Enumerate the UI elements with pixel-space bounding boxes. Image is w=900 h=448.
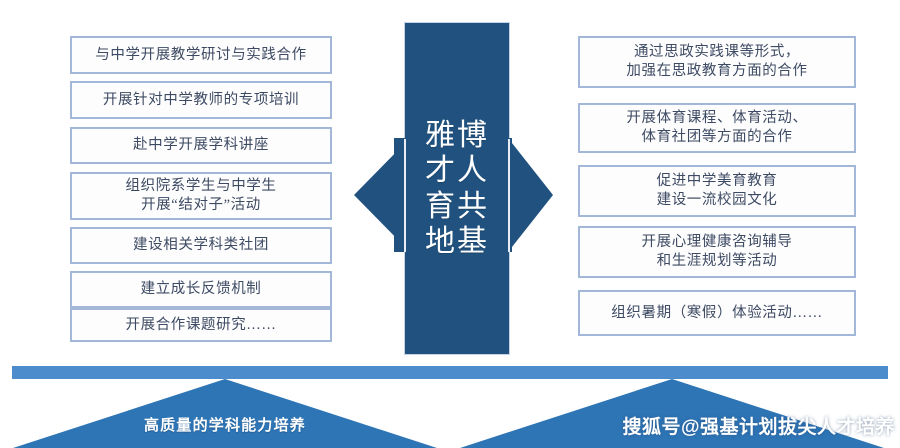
diagram-canvas: 与中学开展教学研讨与实践合作 开展针对中学教师的专项培训 赴中学开展学科讲座 组… [0, 0, 900, 448]
left-box-3: 赴中学开展学科讲座 [70, 127, 332, 164]
left-box-2: 开展针对中学教师的专项培训 [70, 81, 332, 119]
left-box-7: 开展合作课题研究…… [70, 308, 332, 342]
left-box-6: 建立成长反馈机制 [70, 271, 332, 308]
center-notch-right-line [508, 139, 510, 252]
right-box-5: 组织暑期（寒假）体验活动…… [578, 290, 856, 336]
center-vertical-bar [404, 22, 510, 355]
right-box-2: 开展体育课程、体育活动、 体育社团等方面的合作 [578, 103, 856, 153]
right-box-1: 通过思政实践课等形式， 加强在思政教育方面的合作 [578, 36, 856, 88]
right-box-3: 促进中学美育教育 建设一流校园文化 [578, 165, 856, 217]
left-box-1: 与中学开展教学研讨与实践合作 [70, 36, 332, 74]
left-box-5: 建设相关学科类社团 [70, 227, 332, 264]
arrow-left-icon [354, 138, 410, 252]
center-notch-left-line [404, 139, 406, 252]
watermark-text: 搜狐号@强基计划拔尖人才培养 [505, 412, 895, 439]
footer-divider-bar [12, 366, 888, 379]
arrow-right-icon [508, 138, 553, 252]
footer-label-left: 高质量的学科能力培养 [13, 414, 437, 435]
right-box-4: 开展心理健康咨询辅导 和生涯规划等活动 [578, 226, 856, 278]
left-box-4: 组织院系学生与中学生 开展“结对子”活动 [70, 172, 332, 220]
